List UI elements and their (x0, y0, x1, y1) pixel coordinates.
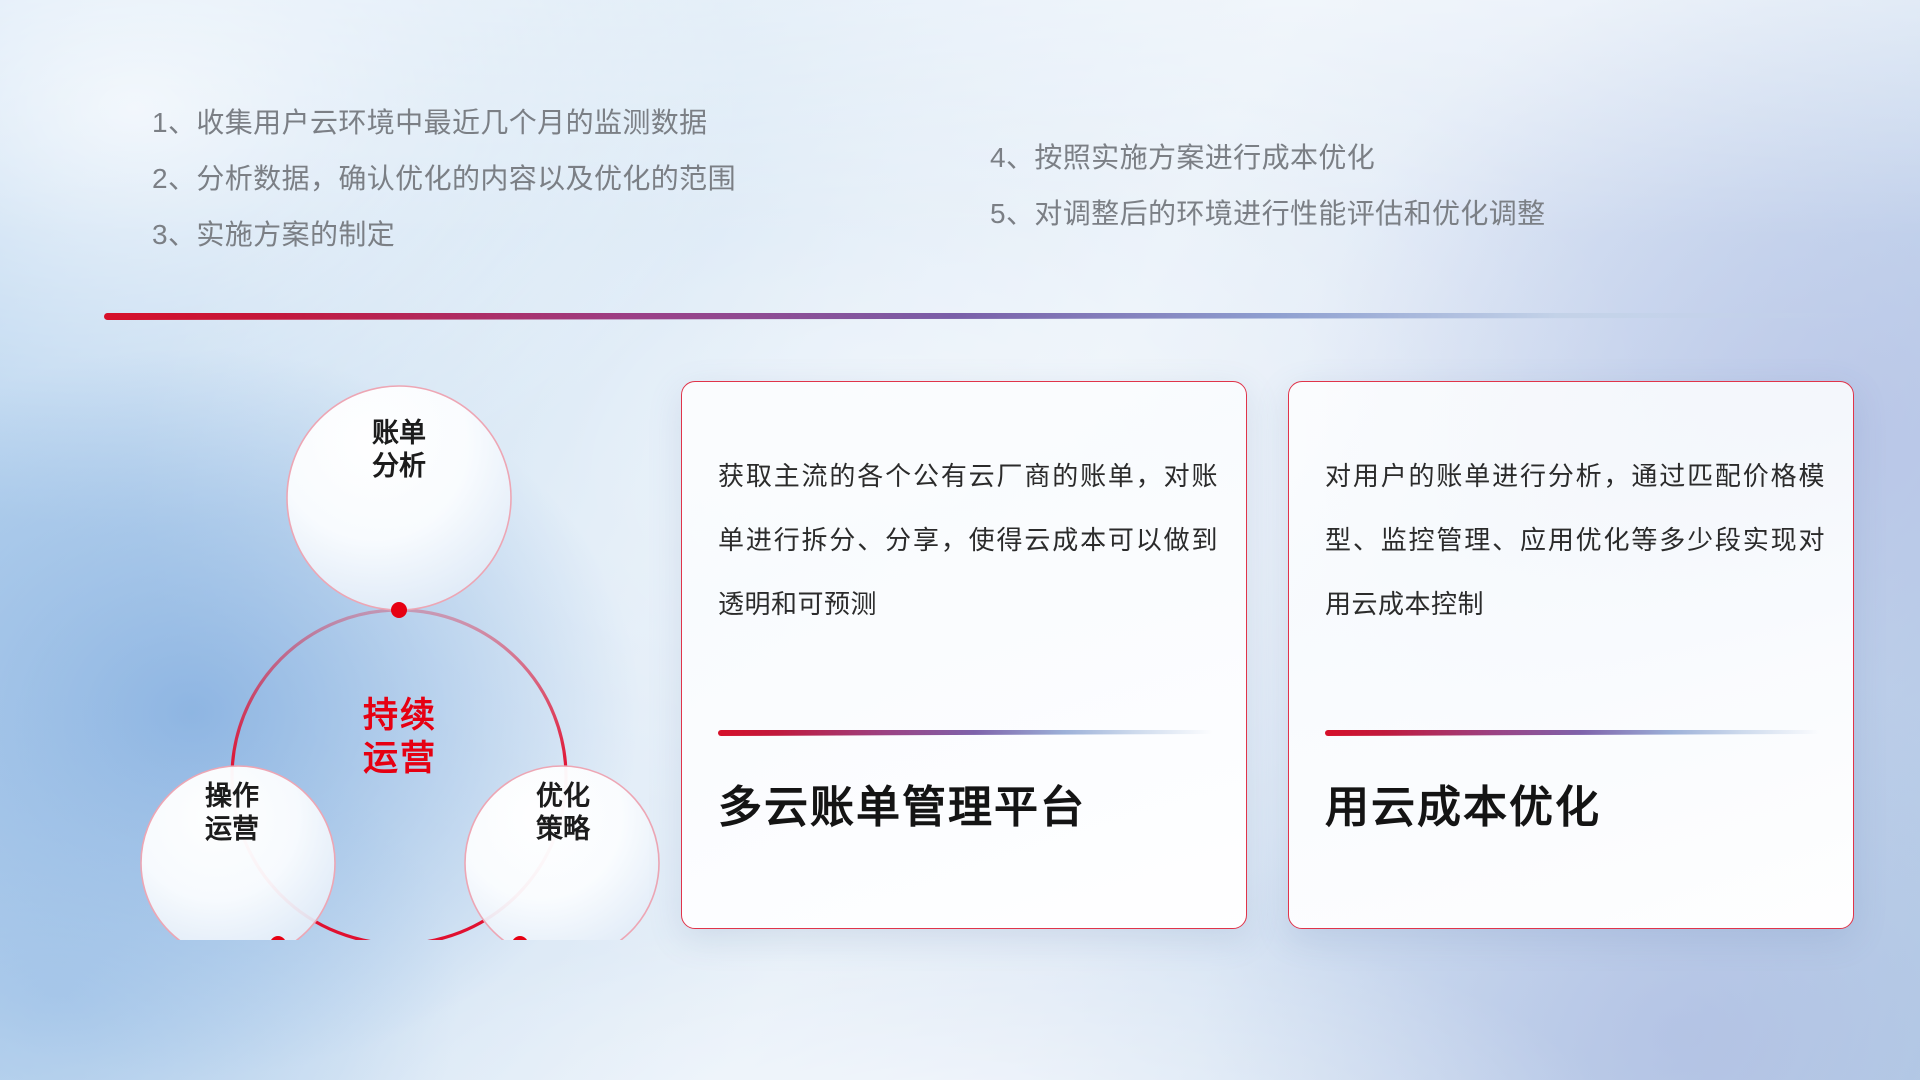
feature-card[interactable]: 对用户的账单进行分析，通过匹配价格模型、监控管理、应用优化等多少段实现对用云成本… (1288, 381, 1854, 929)
card-title: 用云成本优化 (1325, 782, 1601, 835)
feature-card[interactable]: 获取主流的各个公有云厂商的账单，对账单进行拆分、分享，使得云成本可以做到透明和可… (681, 381, 1247, 929)
feature-cards: 获取主流的各个公有云厂商的账单，对账单进行拆分、分享，使得云成本可以做到透明和可… (0, 0, 1920, 1080)
card-body-text: 对用户的账单进行分析，通过匹配价格模型、监控管理、应用优化等多少段实现对用云成本… (1325, 444, 1825, 636)
card-divider (1325, 730, 1819, 736)
card-title: 多云账单管理平台 (718, 782, 1086, 835)
card-body-text: 获取主流的各个公有云厂商的账单，对账单进行拆分、分享，使得云成本可以做到透明和可… (718, 444, 1218, 636)
card-divider (718, 730, 1212, 736)
